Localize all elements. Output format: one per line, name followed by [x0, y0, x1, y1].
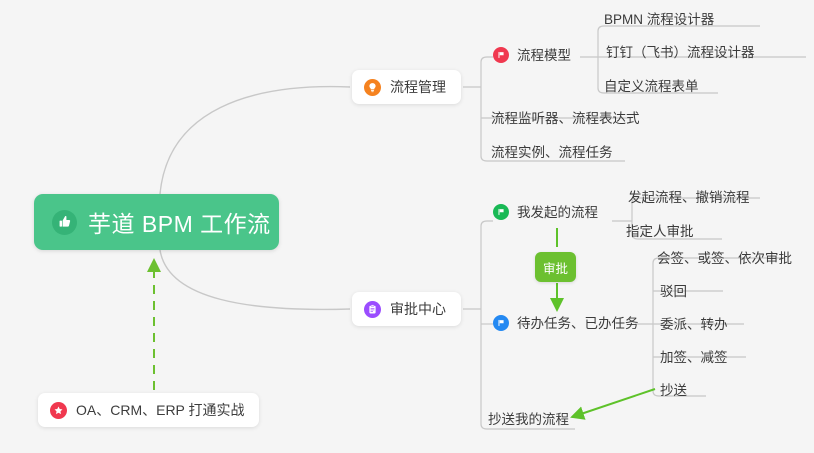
annotation-chip-approve-label: 审批 — [543, 258, 568, 277]
root-label: 芋道 BPM 工作流 — [88, 205, 271, 239]
leaf-process-listener[interactable]: 流程监听器、流程表达式 — [491, 111, 640, 126]
branch-process-management-label: 流程管理 — [390, 77, 446, 97]
mindmap-canvas: 芋道 BPM 工作流 流程管理 审批中心 — [0, 0, 814, 453]
note-card-integration[interactable]: OA、CRM、ERP 打通实战 — [38, 393, 259, 427]
clipboard-icon — [364, 301, 381, 318]
flag-icon — [493, 47, 509, 63]
leaf-todo-done-tasks[interactable]: 待办任务、已办任务 — [493, 315, 639, 331]
leaf-bpmn-designer[interactable]: BPMN 流程设计器 — [604, 12, 714, 27]
star-icon — [50, 402, 67, 419]
leaf-todo-done-tasks-label: 待办任务、已办任务 — [517, 316, 639, 331]
branch-approval-center[interactable]: 审批中心 — [352, 292, 461, 326]
flag-icon — [493, 315, 509, 331]
leaf-custom-form[interactable]: 自定义流程表单 — [604, 79, 699, 94]
leaf-reject[interactable]: 驳回 — [660, 284, 687, 299]
leaf-delegate-transfer[interactable]: 委派、转办 — [660, 317, 728, 332]
annotation-chip-approve: 审批 — [535, 252, 576, 282]
branch-approval-center-label: 审批中心 — [390, 299, 446, 319]
leaf-countersign[interactable]: 会签、或签、依次审批 — [657, 251, 792, 266]
leaf-start-cancel-process[interactable]: 发起流程、撤销流程 — [628, 190, 750, 205]
leaf-dingtalk-designer[interactable]: 钉钉（飞书）流程设计器 — [606, 45, 755, 60]
branch-process-management[interactable]: 流程管理 — [352, 70, 461, 104]
leaf-process-model[interactable]: 流程模型 — [493, 47, 571, 63]
thumbs-up-icon — [52, 210, 77, 235]
root-node[interactable]: 芋道 BPM 工作流 — [34, 194, 279, 250]
leaf-cc-my-process[interactable]: 抄送我的流程 — [488, 412, 569, 427]
leaf-cc[interactable]: 抄送 — [660, 383, 687, 398]
leaf-my-started-process-label: 我发起的流程 — [517, 205, 598, 220]
lightbulb-icon — [364, 79, 381, 96]
flag-icon — [493, 204, 509, 220]
leaf-add-remove-sign[interactable]: 加签、减签 — [660, 350, 728, 365]
note-card-label: OA、CRM、ERP 打通实战 — [76, 400, 245, 420]
leaf-process-instance[interactable]: 流程实例、流程任务 — [491, 145, 613, 160]
leaf-process-model-label: 流程模型 — [517, 48, 571, 63]
leaf-my-started-process[interactable]: 我发起的流程 — [493, 204, 598, 220]
leaf-assignee-approval[interactable]: 指定人审批 — [626, 224, 694, 239]
